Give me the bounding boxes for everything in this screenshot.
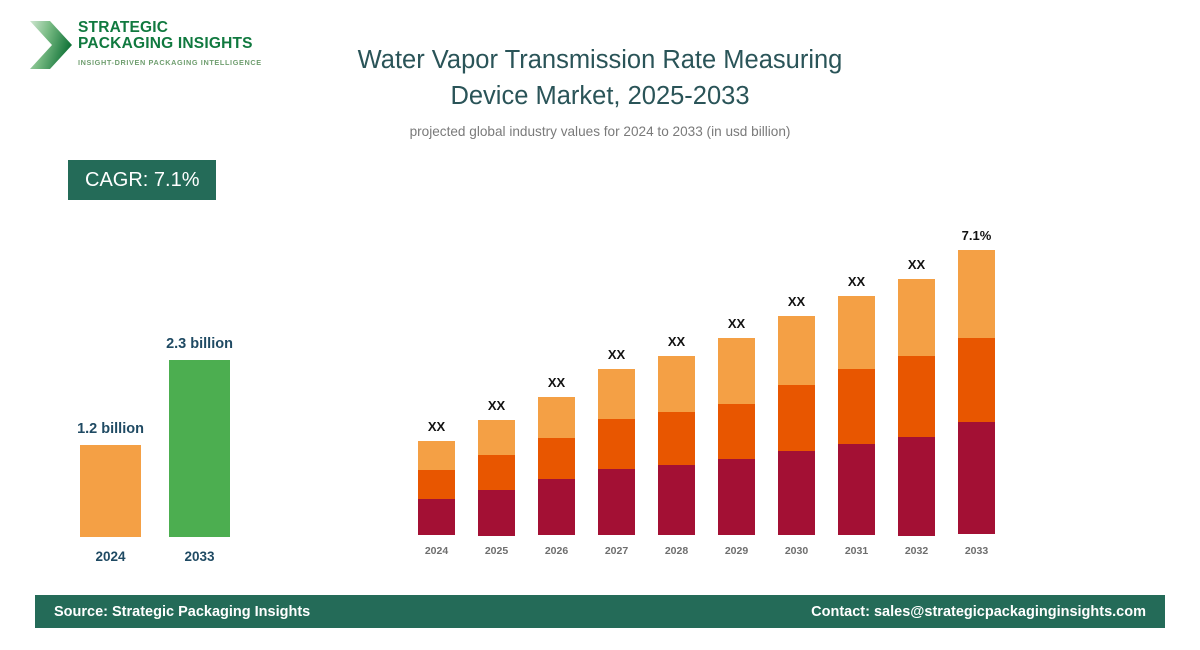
brand-tagline: INSIGHT-DRIVEN PACKAGING INTELLIGENCE [78,58,258,67]
forecast-year-label-2032: 2032 [898,545,935,557]
forecast-year-label-2033: 2033 [958,545,995,557]
forecast-segment-segment-3-2032 [898,279,935,356]
comparison-bar-2033 [169,360,230,537]
footer-contact: Contact: sales@strategicpackaginginsight… [811,604,1146,620]
forecast-segment-segment-1-2030 [778,451,815,535]
forecast-segment-segment-1-2033 [958,422,995,534]
forecast-top-label-2025: XX [467,398,527,413]
forecast-segment-segment-2-2027 [598,419,635,469]
forecast-top-label-2030: XX [767,294,827,309]
forecast-stacked-bar-2028 [658,356,695,535]
forecast-stacked-bar-2024 [418,441,455,535]
forecast-segment-segment-2-2032 [898,356,935,437]
forecast-segment-segment-3-2030 [778,316,815,385]
forecast-segment-segment-1-2027 [598,469,635,535]
forecast-stacked-bar-chart: XX2024XX2025XX2026XX2027XX2028XX2029XX20… [410,200,1010,560]
forecast-segment-segment-1-2024 [418,499,455,535]
forecast-top-label-2027: XX [587,347,647,362]
forecast-year-label-2028: 2028 [658,545,695,557]
title-line-1: Water Vapor Transmission Rate Measuring [260,42,940,78]
forecast-year-label-2024: 2024 [418,545,455,557]
cagr-badge-label: CAGR: 7.1% [85,169,199,192]
forecast-segment-segment-3-2028 [658,356,695,412]
forecast-stacked-bar-2031 [838,296,875,535]
forecast-segment-segment-3-2025 [478,420,515,455]
forecast-top-label-2026: XX [527,375,587,390]
comparison-value-label-2033: 2.3 billion [130,336,270,352]
forecast-segment-segment-3-2033 [958,250,995,338]
forecast-segment-segment-1-2029 [718,459,755,535]
forecast-segment-segment-2-2030 [778,385,815,451]
forecast-segment-segment-2-2028 [658,412,695,465]
forecast-stacked-bar-2030 [778,316,815,535]
forecast-segment-segment-2-2031 [838,369,875,444]
forecast-year-label-2029: 2029 [718,545,755,557]
forecast-top-label-2024: XX [407,419,467,434]
comparison-value-label-2024: 1.2 billion [41,421,181,437]
forecast-top-label-2033: 7.1% [947,228,1007,243]
forecast-segment-segment-2-2025 [478,455,515,490]
forecast-segment-segment-2-2024 [418,470,455,499]
forecast-top-label-2032: XX [887,257,947,272]
brand-name-line-1: STRATEGIC [78,20,258,36]
forecast-year-label-2030: 2030 [778,545,815,557]
forecast-stacked-bar-2032 [898,279,935,535]
forecast-segment-segment-1-2025 [478,490,515,536]
forecast-year-label-2027: 2027 [598,545,635,557]
forecast-segment-segment-3-2029 [718,338,755,404]
chart-infographic-page: STRATEGIC PACKAGING INSIGHTS INSIGHT-DRI… [0,0,1200,650]
brand-name-line-2: PACKAGING INSIGHTS [78,36,258,52]
page-subtitle: projected global industry values for 202… [260,124,940,139]
page-title: Water Vapor Transmission Rate Measuring … [260,42,940,139]
forecast-top-label-2028: XX [647,334,707,349]
forecast-segment-segment-2-2029 [718,404,755,459]
forecast-stacked-bar-2025 [478,420,515,535]
forecast-segment-segment-3-2027 [598,369,635,419]
comparison-bar-2024 [80,445,141,537]
forecast-stacked-bar-2029 [718,338,755,535]
chevron-right-icon [28,18,74,72]
brand-logo-text: STRATEGIC PACKAGING INSIGHTS INSIGHT-DRI… [78,20,258,67]
forecast-segment-segment-3-2024 [418,441,455,470]
forecast-year-label-2025: 2025 [478,545,515,557]
forecast-top-label-2031: XX [827,274,887,289]
forecast-year-label-2031: 2031 [838,545,875,557]
title-line-2: Device Market, 2025-2033 [260,78,940,114]
cagr-badge: CAGR: 7.1% [68,160,216,200]
forecast-segment-segment-3-2026 [538,397,575,438]
forecast-segment-segment-2-2026 [538,438,575,479]
comparison-year-label-2033: 2033 [169,549,230,564]
forecast-segment-segment-1-2026 [538,479,575,535]
forecast-stacked-bar-2033 [958,250,995,535]
comparison-year-label-2024: 2024 [80,549,141,564]
forecast-year-label-2026: 2026 [538,545,575,557]
comparison-bar-chart: 1.2 billion20242.3 billion2033 [50,300,290,570]
footer-source: Source: Strategic Packaging Insights [54,604,310,620]
forecast-segment-segment-1-2032 [898,437,935,536]
forecast-segment-segment-2-2033 [958,338,995,422]
brand-logo: STRATEGIC PACKAGING INSIGHTS INSIGHT-DRI… [28,16,258,76]
footer-bar: Source: Strategic Packaging Insights Con… [35,595,1165,628]
forecast-stacked-bar-2026 [538,397,575,535]
forecast-segment-segment-1-2028 [658,465,695,535]
forecast-segment-segment-3-2031 [838,296,875,369]
forecast-top-label-2029: XX [707,316,767,331]
forecast-segment-segment-1-2031 [838,444,875,535]
forecast-stacked-bar-2027 [598,369,635,535]
